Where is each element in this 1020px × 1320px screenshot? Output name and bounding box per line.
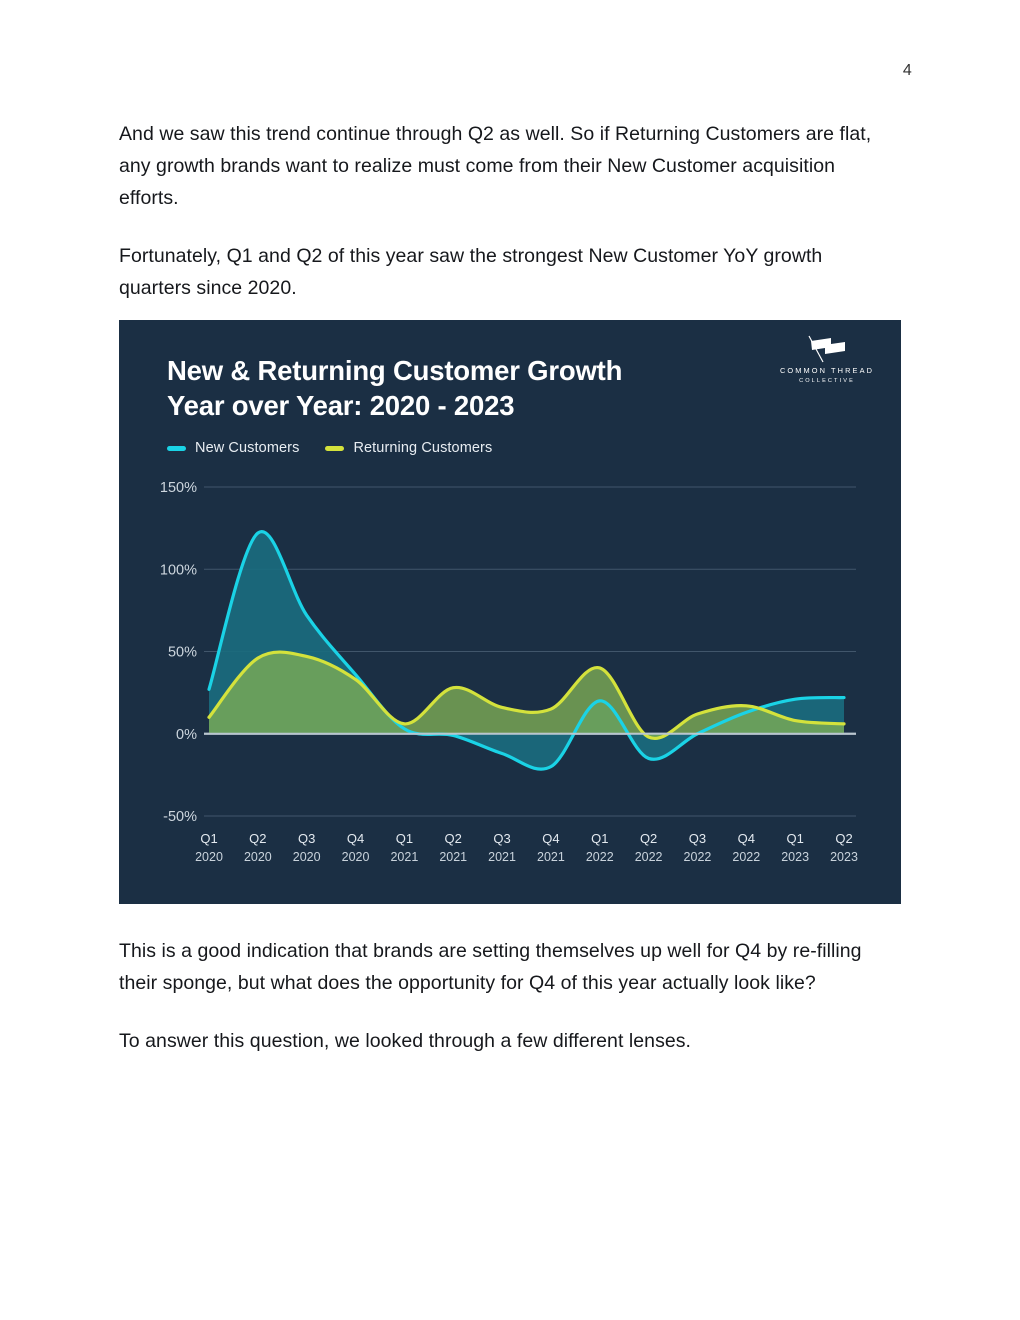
- x-axis-tick-year: 2023: [830, 850, 858, 864]
- x-axis-tick-year: 2022: [732, 850, 760, 864]
- x-axis-tick-label: Q3: [689, 831, 706, 846]
- x-axis-tick-label: Q1: [591, 831, 608, 846]
- x-axis-tick-label: Q1: [396, 831, 413, 846]
- series-area: [209, 652, 844, 738]
- x-axis-tick-label: Q2: [835, 831, 852, 846]
- x-axis-tick-label: Q4: [347, 831, 364, 846]
- y-axis-tick-label: 50%: [168, 645, 197, 661]
- x-axis-tick-year: 2020: [195, 850, 223, 864]
- y-axis-tick-label: 0%: [176, 727, 197, 743]
- x-axis-tick-year: 2023: [781, 850, 809, 864]
- paragraph: Fortunately, Q1 and Q2 of this year saw …: [119, 240, 894, 304]
- x-axis-tick-label: Q3: [493, 831, 510, 846]
- document-page: 4 And we saw this trend continue through…: [0, 0, 1020, 1320]
- x-axis-tick-year: 2021: [439, 850, 467, 864]
- x-axis-tick-label: Q1: [786, 831, 803, 846]
- y-axis-tick-label: 100%: [160, 562, 197, 578]
- x-axis-tick-label: Q4: [542, 831, 559, 846]
- body-text-top: And we saw this trend continue through Q…: [119, 118, 894, 304]
- x-axis-tick-year: 2022: [635, 850, 663, 864]
- y-axis-tick-label: -50%: [163, 809, 197, 825]
- chart-card: New & Returning Customer Growth Year ove…: [119, 320, 901, 904]
- page-number: 4: [903, 62, 912, 80]
- x-axis-tick-year: 2022: [684, 850, 712, 864]
- x-axis-tick-label: Q4: [738, 831, 755, 846]
- x-axis-tick-label: Q1: [200, 831, 217, 846]
- x-axis-tick-year: 2020: [244, 850, 272, 864]
- x-axis-tick-label: Q2: [640, 831, 657, 846]
- x-axis-tick-year: 2020: [342, 850, 370, 864]
- body-text-bottom: This is a good indication that brands ar…: [119, 935, 894, 1057]
- paragraph: To answer this question, we looked throu…: [119, 1025, 894, 1057]
- chart-plot-area: 150%100%50%0%-50%Q12020Q22020Q32020Q4202…: [119, 320, 901, 904]
- x-axis-tick-year: 2022: [586, 850, 614, 864]
- x-axis-tick-year: 2020: [293, 850, 321, 864]
- x-axis-tick-label: Q3: [298, 831, 315, 846]
- x-axis-tick-label: Q2: [249, 831, 266, 846]
- x-axis-tick-year: 2021: [390, 850, 418, 864]
- x-axis-tick-year: 2021: [537, 850, 565, 864]
- x-axis-tick-year: 2021: [488, 850, 516, 864]
- paragraph: This is a good indication that brands ar…: [119, 935, 894, 999]
- x-axis-tick-label: Q2: [445, 831, 462, 846]
- y-axis-tick-label: 150%: [160, 480, 197, 496]
- paragraph: And we saw this trend continue through Q…: [119, 118, 894, 214]
